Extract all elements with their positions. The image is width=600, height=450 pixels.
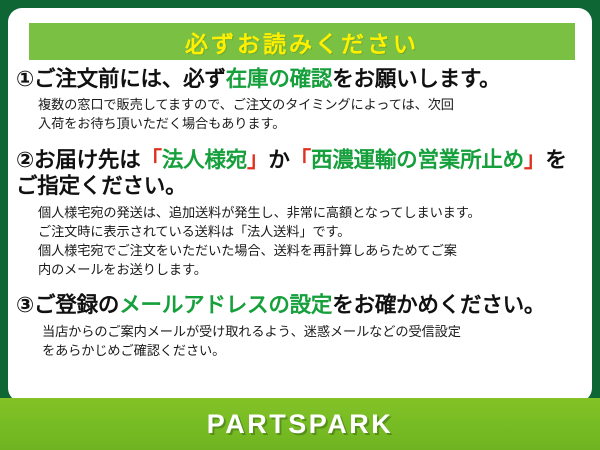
item-headline-text: ご登録のメールアドレスの設定をお確かめください。 (34, 293, 545, 317)
item-number: ① (16, 67, 34, 91)
headline-segment: をお願いします。 (332, 67, 500, 91)
list-item: ②お届け先は「法人様宛」か「西濃運輸の営業所止め」をご指定ください。 個人様宅宛… (8, 147, 592, 280)
page-title: 必ずお読みください (185, 25, 419, 59)
headline-segment: をお確かめください。 (332, 293, 545, 317)
item-number: ② (16, 148, 34, 172)
body-line: 内のメールをお送りします。 (38, 260, 582, 279)
body-line: をあらかじめご確認ください。 (42, 341, 582, 360)
footer-brand-band: PARTSPARK (0, 398, 600, 450)
headline-segment: ご注文前には、必ず (34, 67, 226, 91)
notice-list: ①ご注文前には、必ず在庫の確認をお願いします。 複数の窓口で販売してますので、ご… (8, 64, 592, 360)
notice-banner: 必ずお読みください ①ご注文前には、必ず在庫の確認をお願いします。 複数の窓口で… (0, 0, 600, 450)
headline-segment: 在庫の確認 (226, 67, 333, 91)
headline-segment: 「 (141, 148, 162, 172)
item-headline-text: ご注文前には、必ず在庫の確認をお願いします。 (34, 67, 500, 91)
headline-segment: 「 (290, 148, 311, 172)
item-body: 当店からのご案内メールが受け取れるよう、迷惑メールなどの受信設定をあらかじめご確… (16, 322, 582, 360)
item-headline-text: お届け先は「法人様宛」か「西濃運輸の営業所止め」をご指定ください。 (16, 148, 567, 198)
header-ribbon: 必ずお読みください (29, 23, 575, 60)
item-headline: ③ご登録のメールアドレスの設定をお確かめください。 (16, 292, 582, 318)
item-headline: ①ご注文前には、必ず在庫の確認をお願いします。 (16, 66, 582, 92)
headline-segment: ご登録の (34, 293, 119, 317)
body-line: ご注文時に表示されている送料は「法人送料」です。 (38, 222, 582, 241)
headline-segment: 西濃運輸の営業所止め (311, 148, 524, 172)
headline-segment: 」 (247, 148, 268, 172)
body-line: 入荷をお待ち頂いただく場合もあります。 (38, 114, 582, 133)
headline-segment: か (268, 148, 289, 172)
headline-segment: 」 (524, 148, 545, 172)
brand-logo-text: PARTSPARK (207, 409, 394, 440)
item-body: 複数の窓口で販売してますので、ご注文のタイミングによっては、次回入荷をお待ち頂い… (16, 95, 582, 133)
body-line: 複数の窓口で販売してますので、ご注文のタイミングによっては、次回 (38, 95, 582, 114)
notice-card: 必ずお読みください ①ご注文前には、必ず在庫の確認をお願いします。 複数の窓口で… (8, 8, 592, 402)
headline-segment: お届け先は (34, 148, 141, 172)
body-line: 当店からのご案内メールが受け取れるよう、迷惑メールなどの受信設定 (42, 322, 582, 341)
item-headline: ②お届け先は「法人様宛」か「西濃運輸の営業所止め」をご指定ください。 (16, 147, 582, 199)
item-number: ③ (16, 293, 34, 317)
headline-segment: メールアドレスの設定 (119, 293, 332, 317)
list-item: ①ご注文前には、必ず在庫の確認をお願いします。 複数の窓口で販売してますので、ご… (8, 66, 592, 134)
headline-segment: 法人様宛 (162, 148, 247, 172)
body-line: 個人様宅宛でご注文をいただいた場合、送料を再計算しあらためてご案 (38, 241, 582, 260)
body-line: 個人様宅宛の発送は、追加送料が発生し、非常に高額となってしまいます。 (38, 203, 582, 222)
item-body: 個人様宅宛の発送は、追加送料が発生し、非常に高額となってしまいます。ご注文時に表… (16, 203, 582, 280)
list-item: ③ご登録のメールアドレスの設定をお確かめください。 当店からのご案内メールが受け… (8, 292, 592, 361)
